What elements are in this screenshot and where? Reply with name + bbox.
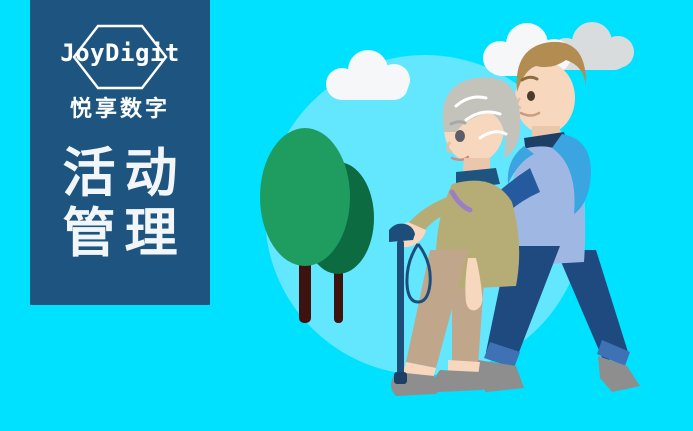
logo-subtitle: 悦享数字 bbox=[70, 98, 170, 122]
young-man-eye bbox=[527, 91, 535, 101]
page-title-line-2: 管理 bbox=[54, 204, 187, 263]
cane-tip bbox=[394, 372, 407, 384]
logo-wordmark: JoyDigit bbox=[45, 41, 195, 65]
brand-logo: JoyDigit bbox=[45, 24, 195, 96]
page-title-line-1: 活动 bbox=[54, 144, 187, 203]
elderly-eye bbox=[455, 130, 465, 142]
elderly-back-shoe bbox=[434, 370, 485, 392]
promo-banner: JoyDigit 悦享数字 活动 管理 bbox=[0, 0, 693, 431]
cane-shaft bbox=[397, 240, 404, 380]
page-title: 活动 管理 bbox=[54, 144, 187, 263]
left-title-panel: JoyDigit 悦享数字 活动 管理 bbox=[30, 0, 210, 305]
